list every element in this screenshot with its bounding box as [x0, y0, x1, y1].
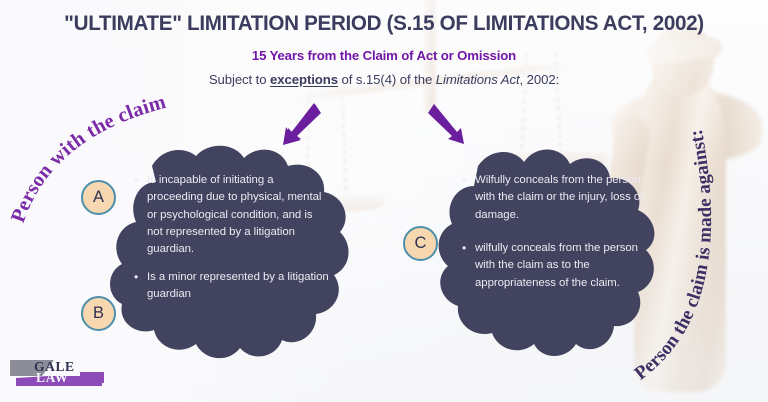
note-italic-statute: Limitations Act — [436, 72, 520, 87]
note-after: , 2002: — [520, 72, 560, 87]
badge-a: A — [81, 180, 116, 215]
arrow-down-left-icon — [277, 100, 323, 148]
side-label-person-with-claim: Person with the claim — [10, 96, 210, 236]
list-item: Is a minor represented by a litigation g… — [134, 269, 330, 304]
header-block: "ULTIMATE" LIMITATION PERIOD (S.15 OF LI… — [0, 0, 768, 87]
gale-law-logo-icon[interactable]: GALE LAW — [8, 352, 112, 392]
list-item: wilfully conceals from the person with t… — [462, 240, 644, 292]
note-middle: of s.15(4) of the — [338, 72, 436, 87]
arrow-down-right-icon — [424, 100, 470, 148]
logo-line2: LAW — [36, 370, 69, 385]
badge-b-letter: B — [93, 304, 104, 323]
infographic-poster: "ULTIMATE" LIMITATION PERIOD (S.15 OF LI… — [0, 0, 768, 402]
badge-a-letter: A — [93, 188, 104, 207]
side-label-right-text: Person the claim is made against: — [631, 128, 716, 385]
badge-c-letter: C — [415, 234, 427, 253]
note-before: Subject to — [209, 72, 270, 87]
svg-text:Person the claim is made again: Person the claim is made against: — [631, 128, 716, 385]
badge-b: B — [81, 296, 116, 331]
page-title: "ULTIMATE" LIMITATION PERIOD (S.15 OF LI… — [15, 11, 752, 36]
list-item: Wilfully conceals from the person with t… — [462, 172, 644, 224]
badge-c: C — [403, 226, 438, 261]
right-exception-text: Wilfully conceals from the person with t… — [462, 172, 644, 292]
right-bullet-list: Wilfully conceals from the person with t… — [462, 172, 644, 292]
note-emphasis: exceptions — [270, 72, 338, 87]
side-label-person-claim-against: Person the claim is made against: — [620, 104, 768, 389]
page-subtitle: 15 Years from the Claim of Act or Omissi… — [0, 48, 768, 63]
exceptions-note: Subject to exceptions of s.15(4) of the … — [0, 72, 768, 87]
